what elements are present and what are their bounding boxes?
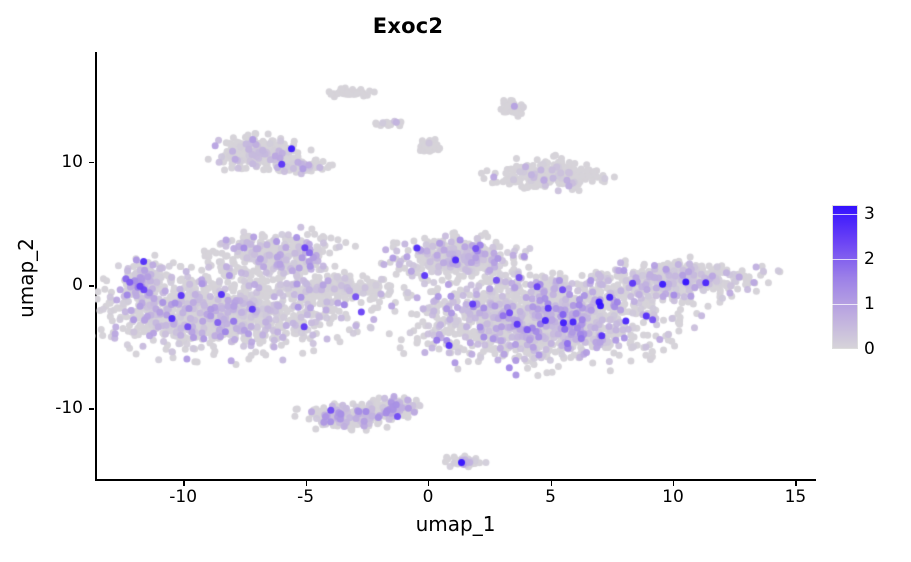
y-tick-label: -10 xyxy=(55,398,83,418)
x-tick-mark xyxy=(551,481,552,486)
x-tick-label: -5 xyxy=(297,487,314,507)
y-tick-label: 0 xyxy=(72,275,83,295)
x-tick-label: 15 xyxy=(785,487,807,507)
x-tick-mark xyxy=(428,481,429,486)
page-title: Exoc2 xyxy=(0,14,911,38)
colorbar xyxy=(832,205,858,349)
colorbar-tick-label: 2 xyxy=(864,249,875,269)
scatter-plot-canvas xyxy=(95,52,815,480)
colorbar-tick-label: 1 xyxy=(864,294,875,314)
colorbar-tick-mark xyxy=(832,259,858,260)
x-tick-mark xyxy=(183,481,184,486)
umap-feature-plot: Exoc2 -10-5051015 100-10 umap_1 umap_2 0… xyxy=(0,0,911,562)
colorbar-tick-label: 0 xyxy=(864,339,875,359)
x-tick-label: 5 xyxy=(545,487,556,507)
x-tick-label: 10 xyxy=(662,487,684,507)
x-tick-mark xyxy=(306,481,307,486)
x-tick-mark xyxy=(795,481,796,486)
x-tick-label: 0 xyxy=(423,487,434,507)
colorbar-tick-mark xyxy=(832,304,858,305)
x-axis-label: umap_1 xyxy=(95,512,816,536)
y-tick-mark xyxy=(89,408,94,409)
colorbar-tick-mark xyxy=(832,214,858,215)
y-tick-label: 10 xyxy=(61,152,83,172)
y-tick-mark xyxy=(89,285,94,286)
x-tick-mark xyxy=(673,481,674,486)
colorbar-tick-label: 3 xyxy=(864,204,875,224)
colorbar-gradient xyxy=(832,205,858,349)
y-tick-mark xyxy=(89,162,94,163)
y-axis-label: umap_2 xyxy=(14,178,38,378)
x-tick-label: -10 xyxy=(169,487,197,507)
